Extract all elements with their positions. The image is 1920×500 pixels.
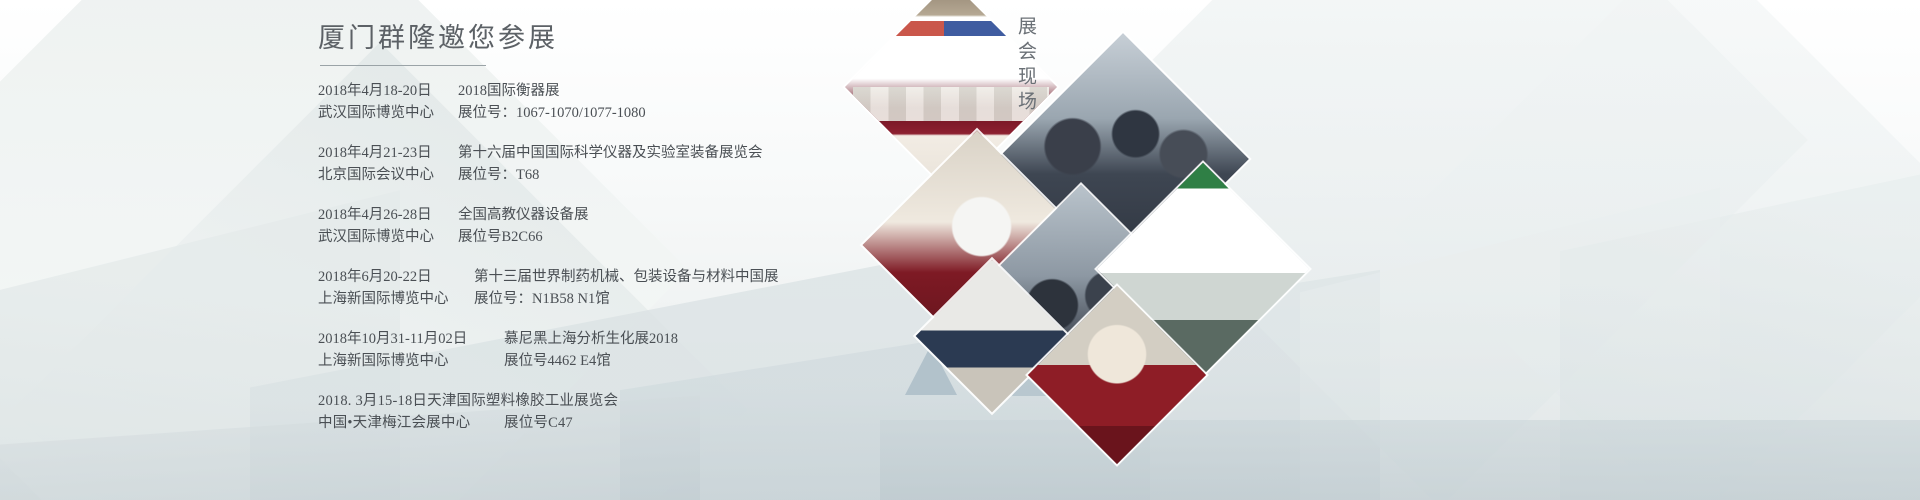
exhibition-name: 2018国际衡器展 <box>458 80 560 102</box>
exhibition-venue: 中国•天津梅江会展中心 <box>318 412 488 434</box>
title-divider <box>320 65 486 66</box>
exhibition-entry: 2018年6月20-22日第十三届世界制药机械、包装设备与材料中国展 上海新国际… <box>318 266 878 310</box>
collage-caption: 展会现场 <box>1012 16 1039 116</box>
exhibition-booth: 展位号：T68 <box>458 164 539 186</box>
exhibition-entry: 2018年4月18-20日2018国际衡器展 武汉国际博览中心展位号：1067-… <box>318 80 878 124</box>
exhibition-date: 2018年10月31-11月02日 <box>318 328 488 350</box>
exhibition-line-primary: 2018年4月21-23日第十六届中国国际科学仪器及实验室装备展览会 <box>318 142 878 164</box>
exhibition-name: 第十三届世界制药机械、包装设备与材料中国展 <box>474 266 779 288</box>
exhibition-date: 2018年6月20-22日 <box>318 266 458 288</box>
exhibition-line-primary: 2018年10月31-11月02日慕尼黑上海分析生化展2018 <box>318 328 878 350</box>
exhibition-booth: 展位号B2C66 <box>458 226 543 248</box>
exhibition-booth: 展位号：N1B58 N1馆 <box>474 288 610 310</box>
background-facet-10 <box>880 420 1920 500</box>
exhibition-entry: 2018年4月26-28日全国高教仪器设备展 武汉国际博览中心展位号B2C66 <box>318 204 878 248</box>
exhibition-banner: 厦门群隆邀您参展 2018年4月18-20日2018国际衡器展 武汉国际博览中心… <box>0 0 1920 500</box>
exhibition-line-secondary: 武汉国际博览中心展位号B2C66 <box>318 226 878 248</box>
exhibition-line-secondary: 武汉国际博览中心展位号：1067-1070/1077-1080 <box>318 102 878 124</box>
exhibition-entry: 2018年10月31-11月02日慕尼黑上海分析生化展2018 上海新国际博览中… <box>318 328 878 372</box>
exhibition-line-primary: 2018年4月18-20日2018国际衡器展 <box>318 80 878 102</box>
exhibition-booth: 展位号C47 <box>504 412 573 434</box>
exhibition-date: 2018年4月18-20日 <box>318 80 442 102</box>
exhibition-date: 2018年4月26-28日 <box>318 204 442 226</box>
exhibition-line-secondary: 上海新国际博览中心展位号4462 E4馆 <box>318 350 878 372</box>
exhibition-name: 慕尼黑上海分析生化展2018 <box>504 328 678 350</box>
exhibition-booth: 展位号4462 E4馆 <box>504 350 611 372</box>
exhibition-line-primary: 2018. 3月15-18日天津国际塑料橡胶工业展览会 <box>318 390 878 412</box>
exhibition-date: 2018年4月21-23日 <box>318 142 442 164</box>
exhibition-venue: 上海新国际博览中心 <box>318 350 488 372</box>
exhibition-line-secondary: 北京国际会议中心展位号：T68 <box>318 164 878 186</box>
exhibition-venue: 上海新国际博览中心 <box>318 288 458 310</box>
exhibition-venue: 武汉国际博览中心 <box>318 102 442 124</box>
exhibition-line-secondary: 上海新国际博览中心展位号：N1B58 N1馆 <box>318 288 878 310</box>
exhibition-list: 厦门群隆邀您参展 2018年4月18-20日2018国际衡器展 武汉国际博览中心… <box>318 22 878 452</box>
page-title: 厦门群隆邀您参展 <box>318 22 878 56</box>
exhibition-booth: 展位号：1067-1070/1077-1080 <box>458 102 646 124</box>
exhibition-entry: 2018年4月21-23日第十六届中国国际科学仪器及实验室装备展览会 北京国际会… <box>318 142 878 186</box>
exhibition-name: 全国高教仪器设备展 <box>458 204 589 226</box>
exhibition-entry: 2018. 3月15-18日天津国际塑料橡胶工业展览会 中国•天津梅江会展中心展… <box>318 390 878 434</box>
exhibition-venue: 北京国际会议中心 <box>318 164 442 186</box>
exhibition-name: 第十六届中国国际科学仪器及实验室装备展览会 <box>458 142 763 164</box>
exhibition-date: 2018. 3月15-18日天津国际塑料橡胶工业展览会 <box>318 393 618 409</box>
exhibition-line-primary: 2018年6月20-22日第十三届世界制药机械、包装设备与材料中国展 <box>318 266 878 288</box>
exhibition-line-primary: 2018年4月26-28日全国高教仪器设备展 <box>318 204 878 226</box>
exhibition-venue: 武汉国际博览中心 <box>318 226 442 248</box>
exhibition-line-secondary: 中国•天津梅江会展中心展位号C47 <box>318 412 878 434</box>
photo-collage <box>838 0 1258 412</box>
